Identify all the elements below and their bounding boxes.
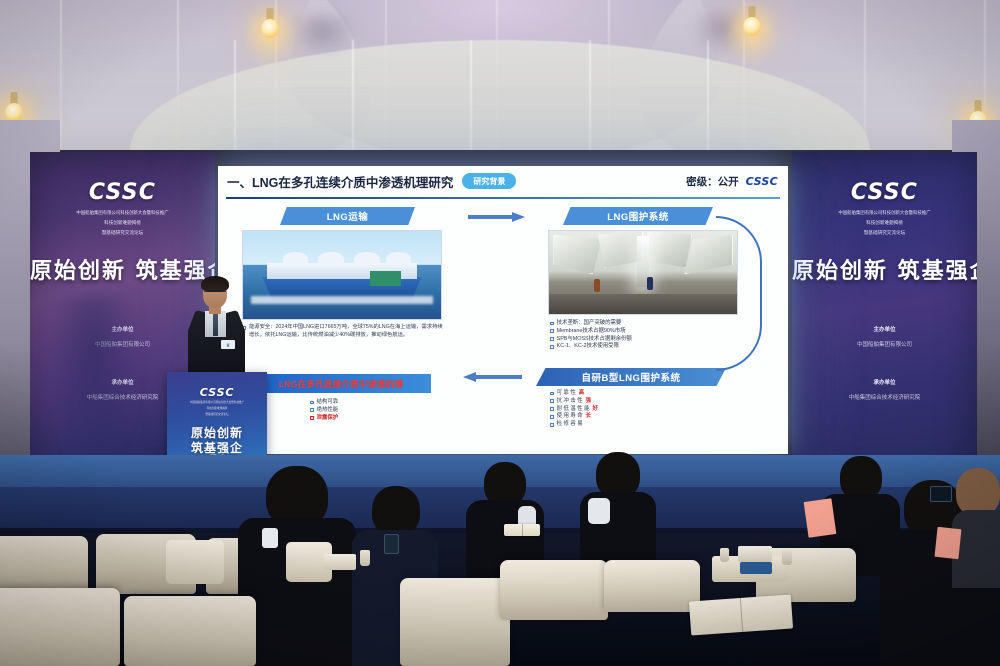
podium-subtitle-1: 中国船舶集团有限公司科技创新大会暨科技推广 [167, 401, 267, 405]
research-bullet-list: 结构可靠 绝热性能 泄露保护 [310, 399, 338, 422]
slide-section-badge: 研究背景 [462, 173, 516, 189]
slide-header: 一、LNG在多孔连续介质中渗透机理研究 研究背景 密级：公开 CSSC [218, 166, 788, 196]
speaker-badge: 证 [221, 340, 235, 349]
bullet-highlight: 长 [586, 413, 591, 421]
bullet-label: 结构可靠 [317, 399, 339, 407]
drink-cup [720, 548, 729, 562]
tissue-box [738, 546, 772, 562]
left-paragraph-block: 能源安全：2024年中国LNG进口7665万吨，全球75%的LNG在海上运输，需… [242, 324, 447, 340]
person-sleeve [588, 498, 610, 524]
selfdev-bullet-list: 可 靠 性 高 抗 冲 击 性 强 耐 低 温 性 能 好 使 用 寿 命 长 [550, 390, 598, 429]
smartphone [384, 534, 399, 554]
banner-host-name: 中国船舶集团有限公司 [792, 340, 977, 348]
banner-organizer-name: 中船集团综合技术经济研究院 [792, 393, 977, 401]
audience-person [488, 470, 522, 510]
podium-subtitle-2: 科技创新难题揭榜 [167, 407, 267, 411]
slide-title: 一、LNG在多孔连续介质中渗透机理研究 [227, 172, 453, 191]
flow-box-containment-title: LNG围护系统 [563, 207, 713, 225]
bullet-label: 技术垄断：国产突破的需要 [557, 320, 622, 328]
audience-chair [500, 560, 608, 620]
bullet-square-icon [310, 408, 314, 412]
speaker-hair [201, 276, 229, 292]
list-item: 技术垄断：国产突破的需要 [550, 320, 632, 328]
chair-armrest [166, 540, 224, 584]
bullet-square-icon [310, 401, 314, 405]
glasses-icon [204, 291, 226, 296]
list-item: 检 修 容 易 [550, 421, 598, 429]
audience-person [952, 468, 1000, 588]
tissue-box [324, 554, 356, 570]
photo-containment-tank [548, 230, 738, 315]
list-item: Membrane技术占据90%市场 [550, 328, 632, 336]
bullet-square-icon [550, 345, 554, 349]
bullet-label: 抗 冲 击 性 [557, 398, 583, 406]
bullet-label: 可 靠 性 [557, 390, 576, 398]
drink-cup [360, 550, 370, 566]
person-head [956, 468, 1000, 516]
draped-ceiling [0, 0, 1000, 172]
cssc-logo: CSSC [167, 386, 267, 399]
bullet-highlight: 好 [593, 406, 598, 414]
person-head [494, 470, 516, 494]
flow-arrow-left [463, 372, 525, 382]
slide-divider [226, 197, 780, 199]
blue-box-item [740, 562, 772, 574]
bullet-label: 泄露保护 [317, 415, 339, 423]
bullet-label: 绝热性能 [317, 407, 339, 415]
bullet-square-icon [550, 407, 554, 411]
person-collar [262, 528, 278, 548]
notebook [504, 524, 540, 536]
bullet-highlight: 强 [586, 398, 591, 406]
cssc-logo: CSSC [792, 180, 977, 205]
banner-organizer-label: 承办单位 [792, 378, 977, 386]
presentation-slide: 一、LNG在多孔连续介质中渗透机理研究 研究背景 密级：公开 CSSC LNG运… [218, 166, 788, 454]
banner-subtitle-1: 中国船舶集团有限公司科技创新大会暨科技推广 [30, 210, 215, 216]
list-item: 抗 冲 击 性 强 [550, 398, 598, 406]
banner-subtitle-3: 暨基础研究交流论坛 [792, 230, 977, 237]
banner-subtitle-3: 暨基础研究交流论坛 [30, 230, 215, 237]
bullet-square-icon [310, 416, 314, 420]
open-notebook [689, 594, 793, 635]
conference-photo-scene: CSSC 中国船舶集团有限公司科技创新大会暨科技推广 科技创新难题揭榜 暨基础研… [0, 0, 1000, 666]
containment-bullet-list: 技术垄断：国产突破的需要 Membrane技术占据90%市场 SPB与MOSS技… [550, 320, 632, 351]
bullet-square-icon [550, 322, 554, 326]
audience-chair [0, 536, 88, 594]
bullet-square-icon [550, 423, 554, 427]
cssc-logo: CSSC [30, 180, 215, 205]
flow-box-selfdev-title: 自研B型LNG围护系统 [536, 368, 726, 386]
banner-subtitle-2: 科技创新难题揭榜 [792, 220, 977, 227]
audience-chair [0, 588, 120, 666]
list-item: 泄露保护 [310, 415, 338, 423]
bullet-highlight: 高 [579, 390, 584, 398]
flow-arrow-right [468, 212, 530, 222]
bullet-square-icon [550, 399, 554, 403]
speaker-person: 证 [186, 274, 248, 378]
pink-paper-sheet [804, 498, 837, 538]
flow-curve-connector [716, 216, 762, 371]
banner-subtitle-1: 中国船舶集团有限公司科技创新大会暨科技推广 [792, 210, 977, 216]
audience-person [580, 452, 656, 568]
podium-subtitle-3: 暨基础研究交流论坛 [167, 413, 267, 417]
podium-slogan-line1: 原始创新 [167, 427, 267, 441]
pink-paper-sheet [934, 527, 961, 559]
bullet-square-icon [550, 392, 554, 396]
drink-cup [782, 550, 792, 565]
audience-chair [124, 596, 256, 666]
list-item: KC-1、KC-2技术使用受限 [550, 343, 632, 351]
speaker-tie [213, 314, 218, 336]
flow-box-lng-transport-title: LNG运输 [280, 207, 415, 225]
person-head [372, 486, 420, 536]
bullet-square-icon [550, 329, 554, 333]
audience-chair [400, 578, 510, 666]
list-item: 可 靠 性 高 [550, 390, 598, 398]
bullet-square-icon [550, 337, 554, 341]
bullet-label: 检 修 容 易 [557, 421, 583, 429]
flow-box-permeation-title: LNG在多孔连续介质中渗透机理 [251, 374, 431, 393]
banner-slogan: 原始创新 筑基强企 [792, 253, 977, 285]
cssc-logo: CSSC [746, 175, 778, 188]
backdrop-banner-right: CSSC 中国船舶集团有限公司科技创新大会暨科技推广 科技创新难题揭榜 暨基础研… [792, 152, 977, 490]
tablet-device [930, 486, 952, 502]
list-item: 结构可靠 [310, 399, 338, 407]
list-item: 绝热性能 [310, 407, 338, 415]
banner-subtitle-2: 科技创新难题揭榜 [30, 220, 215, 227]
audience-chair [604, 560, 700, 612]
bullet-square-icon [550, 415, 554, 419]
energy-security-paragraph: 能源安全：2024年中国LNG进口7665万吨，全球75%的LNG在海上运输，需… [249, 324, 447, 340]
photo-lng-carrier [242, 230, 442, 320]
bullet-label: KC-1、KC-2技术使用受限 [557, 343, 619, 351]
classification-label: 密级：公开 [686, 174, 739, 189]
projection-screen: 一、LNG在多孔连续介质中渗透机理研究 研究背景 密级：公开 CSSC LNG运… [218, 166, 788, 454]
banner-host-label: 主办单位 [792, 325, 977, 333]
bullet-label: Membrane技术占据90%市场 [557, 328, 626, 336]
